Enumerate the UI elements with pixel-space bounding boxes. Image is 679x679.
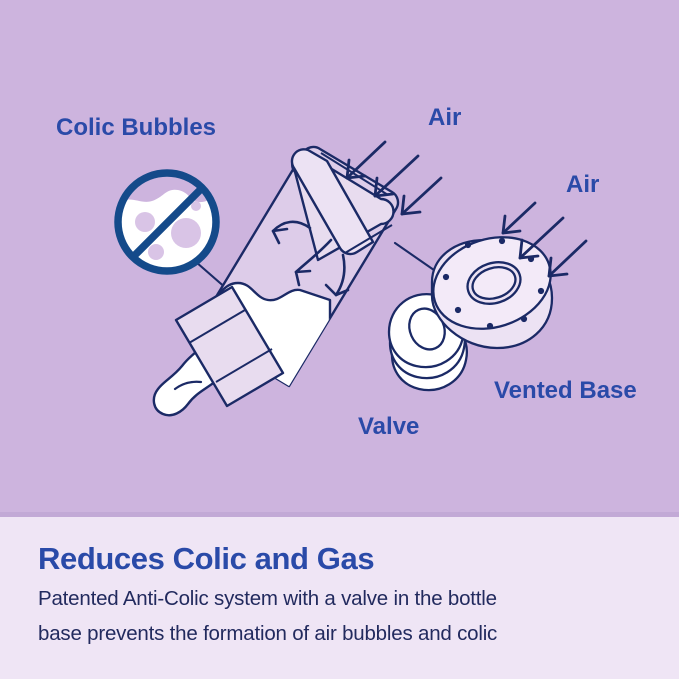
caption-title: Reduces Colic and Gas (38, 541, 374, 577)
no-colic-bubbles-icon (118, 173, 216, 271)
arrow-down-left-icon (503, 203, 535, 233)
bubble (148, 244, 164, 260)
caption-body-line-1: Patented Anti-Colic system with a valve … (38, 587, 497, 611)
arrow-down-left-icon (375, 156, 418, 196)
arrow-down-left-icon (402, 178, 441, 214)
label-air-top: Air (428, 104, 461, 131)
bubble (171, 218, 201, 248)
arrow-down-left-icon (347, 142, 385, 178)
label-colic-bubbles: Colic Bubbles (56, 114, 216, 141)
anti-colic-diagram: Colic Bubbles Air Air Valve Vented Base (0, 0, 679, 516)
arrow-down-left-icon (549, 241, 586, 276)
caption-panel: Reduces Colic and Gas Patented Anti-Coli… (0, 517, 679, 679)
infographic-card: Colic Bubbles Air Air Valve Vented Base … (0, 0, 679, 679)
illustration-panel: Colic Bubbles Air Air Valve Vented Base (0, 0, 679, 516)
label-vented-base: Vented Base (494, 377, 637, 404)
caption-body-line-2: base prevents the formation of air bubbl… (38, 622, 497, 646)
bubble (135, 212, 155, 232)
label-valve: Valve (358, 413, 419, 440)
label-air-right: Air (566, 171, 599, 198)
